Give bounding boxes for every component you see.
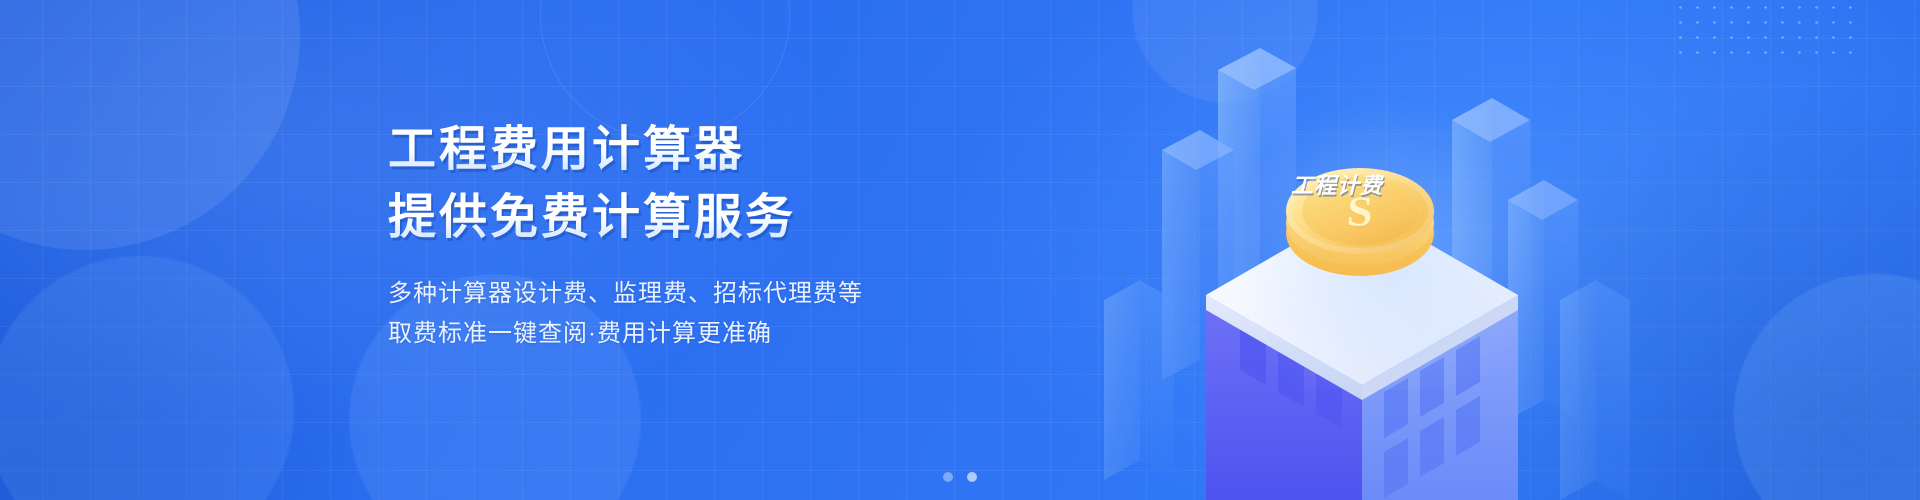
banner-copy: 工程费用计算器 提供免费计算服务 多种计算器设计费、监理费、招标代理费等 取费标… xyxy=(388,118,1008,354)
carousel-dot-1[interactable] xyxy=(943,472,953,482)
banner-illustration: S xyxy=(1100,0,1660,500)
banner-subtitle-line-2: 取费标准一键查阅·费用计算更准确 xyxy=(388,314,1008,354)
carousel-dot-2[interactable] xyxy=(967,472,977,482)
banner-title-line-1: 工程费用计算器 xyxy=(388,118,1008,182)
banner-title-line-2: 提供免费计算服务 xyxy=(388,186,1008,250)
banner-subtitle-line-1: 多种计算器设计费、监理费、招标代理费等 xyxy=(388,274,1008,314)
promo-banner: 工程费用计算器 提供免费计算服务 多种计算器设计费、监理费、招标代理费等 取费标… xyxy=(0,0,1920,500)
carousel-dots[interactable] xyxy=(0,472,1920,482)
decorative-dot-grid xyxy=(1672,0,1862,58)
illustration-label: 工程计费 xyxy=(1291,168,1383,200)
